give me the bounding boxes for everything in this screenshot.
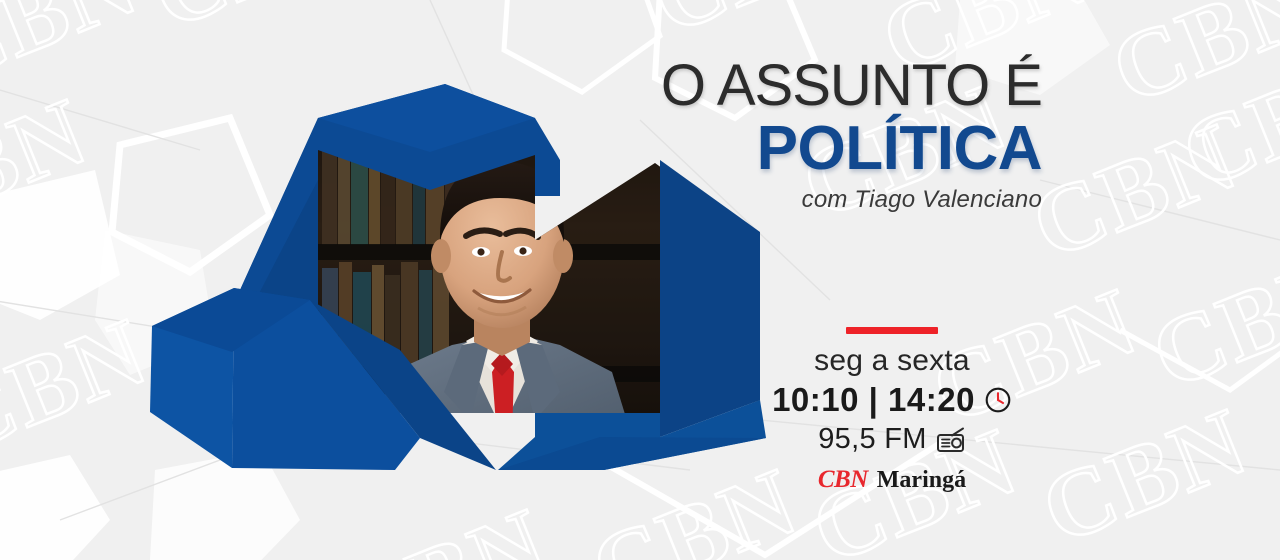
schedule-times: 10:10 | 14:20 bbox=[772, 381, 975, 419]
cube-face-bottom-inner bbox=[535, 413, 660, 437]
ear-left bbox=[431, 239, 451, 273]
radio-icon bbox=[936, 427, 966, 453]
schedule-block: seg a sexta 10:10 | 14:20 95,5 FM bbox=[742, 327, 1042, 494]
page-title-accent: POLÍTICA bbox=[622, 117, 1042, 180]
page-title: O ASSUNTO É bbox=[622, 56, 1042, 115]
radio-program-banner: CBN CBN CBN CBN CBN CBN CBN CBN CBN CBN … bbox=[0, 0, 1280, 560]
schedule-days: seg a sexta bbox=[742, 344, 1042, 377]
pupil-right bbox=[519, 247, 526, 254]
ear-right bbox=[553, 239, 573, 273]
station-brand: CBN bbox=[818, 466, 868, 494]
station-city: Maringá bbox=[877, 467, 966, 494]
clock-icon bbox=[984, 386, 1012, 414]
station-logo: CBN Maringá bbox=[742, 466, 1042, 494]
cube-wedge bbox=[535, 118, 560, 196]
schedule-times-row: 10:10 | 14:20 bbox=[742, 381, 1042, 419]
divider-rule bbox=[846, 327, 938, 334]
headline-block: O ASSUNTO É POLÍTICA com Tiago Valencian… bbox=[622, 56, 1042, 214]
host-credit: com Tiago Valenciano bbox=[622, 186, 1042, 214]
pupil-left bbox=[477, 248, 484, 255]
schedule-frequency-row: 95,5 FM bbox=[742, 423, 1042, 456]
schedule-frequency: 95,5 FM bbox=[818, 423, 926, 456]
